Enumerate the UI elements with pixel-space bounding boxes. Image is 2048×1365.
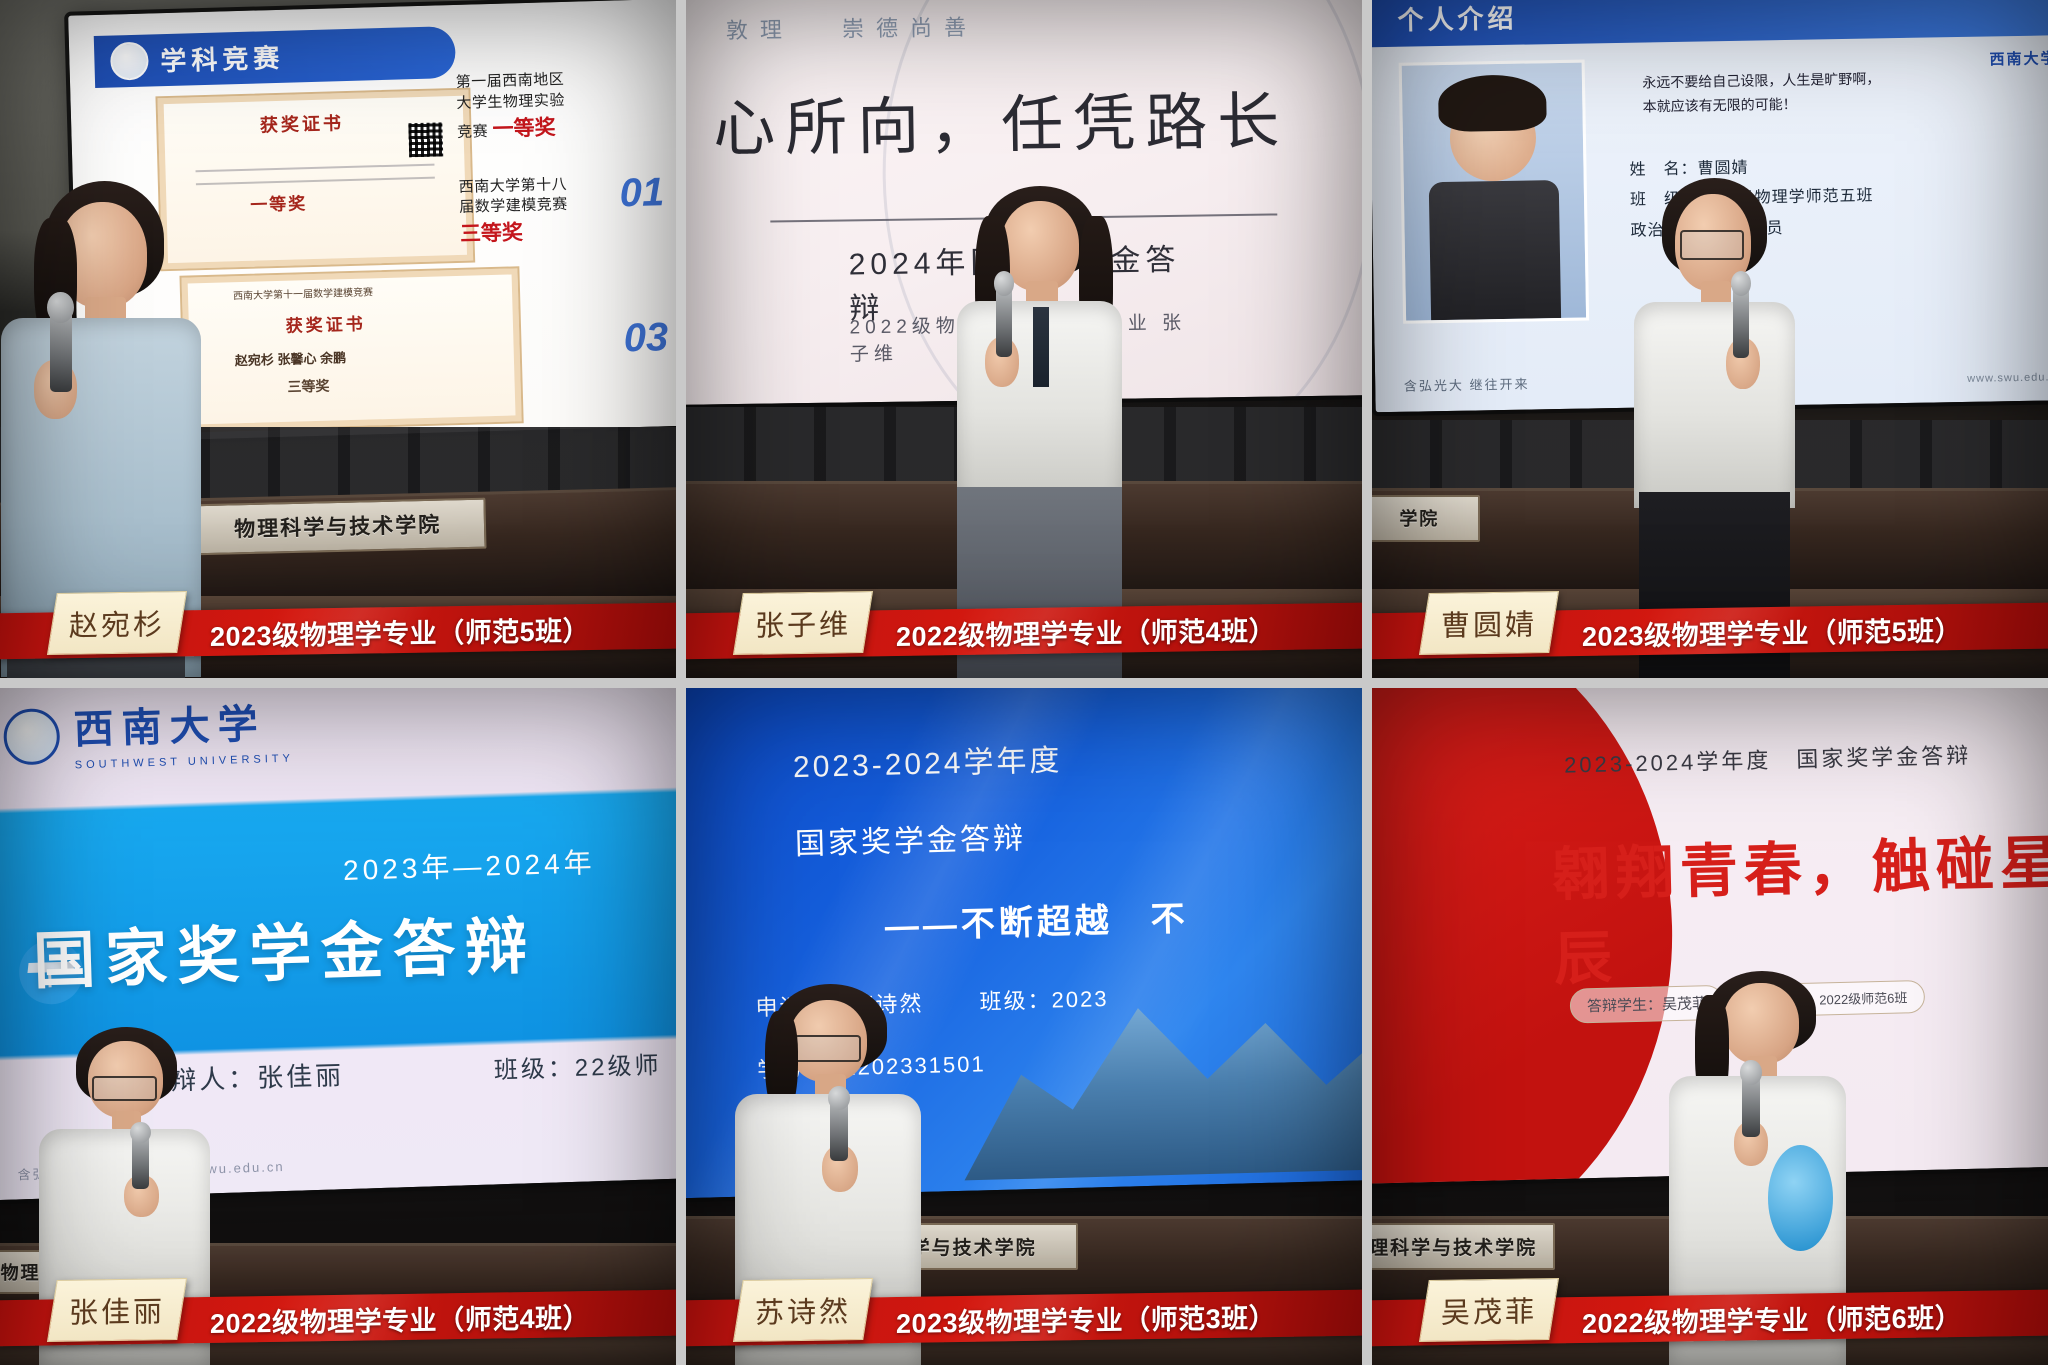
slide-4-university-block: 西南大学 SOUTHWEST UNIVERSITY	[3, 691, 294, 776]
presenter-glasses	[1680, 230, 1744, 261]
presenter-tie	[1033, 307, 1049, 387]
slide-5-line-2: 国家奖学金答辩	[794, 813, 1026, 863]
award-prize-1: 一等奖	[493, 116, 557, 141]
student-name-tag-3: 曹圆婧	[1419, 590, 1559, 654]
slide-3-footer: 含弘光大 继往开来	[1404, 374, 1530, 395]
photo-panel-5[interactable]: 2023-2024学年度 国家奖学金答辩 ——不断超越 不 申请人：苏诗然 班级…	[686, 688, 1362, 1365]
certificate-2-title: 获奖证书	[286, 309, 367, 336]
presenter-torso	[1634, 302, 1795, 508]
student-class-3: 2023级物理学专业（师范5班）	[1582, 605, 1962, 657]
photo-collage: 学科竞赛 获奖证书 一等奖 西南大学第十一届数学建模竞赛 获奖证书 赵宛杉 张馨…	[0, 0, 2048, 1365]
university-seal-icon	[110, 41, 149, 80]
name-banner-2: 张子维 2022级物理学专业（师范4班）	[686, 598, 1362, 656]
photo-panel-2[interactable]: 敦理 崇德尚善 心所向，任凭路长 2024年国家奖学金答辩 2022级物理学（师…	[686, 0, 1362, 678]
motto-left: 敦理	[726, 18, 794, 44]
award-prize-2: 三等奖	[460, 212, 676, 248]
student-name-6: 吴茂菲	[1441, 1288, 1537, 1331]
award-item-3: 竞赛	[457, 122, 489, 143]
photo-panel-6[interactable]: 2023-2024学年度 国家奖学金答辩 翱翔青春，触碰星辰 答辩学生：吴茂菲 …	[1372, 688, 2048, 1365]
slide-2-motto: 敦理 崇德尚善	[726, 10, 979, 46]
name-banner-3: 曹圆婧 2023级物理学专业（师范5班）	[1372, 598, 2048, 656]
microphone-icon	[996, 286, 1012, 356]
scene-3: 个人介绍 西南大学 永远不要给自己设限，人生是旷野啊， 本就应该有无限的可能！	[1372, 0, 2048, 678]
motto-right: 崇德尚善	[842, 15, 978, 42]
slide-4-class: 班级：22级师	[493, 1045, 662, 1085]
photo-panel-3[interactable]: 个人介绍 西南大学 永远不要给自己设限，人生是旷野啊， 本就应该有无限的可能！	[1372, 0, 2048, 678]
student-name-tag-2: 张子维	[733, 590, 873, 654]
student-name-tag-5: 苏诗然	[733, 1278, 873, 1342]
student-portrait	[1398, 60, 1589, 324]
student-class-6: 2022级物理学专业（师范6班）	[1582, 1292, 1962, 1344]
slide-1-header-title: 学科竞赛	[160, 38, 285, 78]
student-name-tag-4: 张佳丽	[47, 1278, 187, 1342]
presenter-head	[1723, 983, 1799, 1064]
department-nameplate-6: 理科学与技术学院	[1372, 1223, 1555, 1270]
student-name-5: 苏诗然	[755, 1288, 851, 1331]
photo-panel-4[interactable]: 西南大学 SOUTHWEST UNIVERSITY 2023年—2024年 国家…	[0, 688, 676, 1365]
student-name-4: 张佳丽	[69, 1288, 165, 1331]
award-number-2: 03	[623, 315, 669, 361]
scene-4: 西南大学 SOUTHWEST UNIVERSITY 2023年—2024年 国家…	[0, 688, 676, 1365]
slide-1-header: 学科竞赛	[94, 26, 456, 87]
certificate-2-sub: 西南大学第十一届数学建模竞赛	[233, 283, 373, 302]
presenter-glasses	[794, 1035, 861, 1063]
photo-panel-1[interactable]: 学科竞赛 获奖证书 一等奖 西南大学第十一届数学建模竞赛 获奖证书 赵宛杉 张馨…	[0, 0, 676, 678]
name-banner-4: 张佳丽 2022级物理学专业（师范4班）	[0, 1285, 676, 1343]
scene-6: 2023-2024学年度 国家奖学金答辩 翱翔青春，触碰星辰 答辩学生：吴茂菲 …	[1372, 688, 2048, 1365]
student-name-2: 张子维	[755, 601, 851, 644]
student-name-1: 赵宛杉	[69, 601, 165, 644]
certificate-2-names: 赵宛杉 张馨心 余鹏	[235, 347, 347, 369]
scene-1: 学科竞赛 获奖证书 一等奖 西南大学第十一届数学建模竞赛 获奖证书 赵宛杉 张馨…	[0, 0, 676, 678]
student-name-3: 曹圆婧	[1441, 601, 1537, 644]
microphone-icon	[1733, 286, 1749, 358]
slide-2-title: 心所向，任凭路长	[713, 71, 1290, 169]
slide-4-title: 国家奖学金答辩	[32, 894, 539, 1000]
student-class-4: 2022级物理学专业（师范4班）	[210, 1292, 590, 1344]
microphone-head	[130, 1122, 150, 1143]
university-names: 西南大学 SOUTHWEST UNIVERSITY	[73, 691, 294, 774]
slide-4-year-range: 2023年—2024年	[342, 841, 596, 889]
certificate-1-prize: 一等奖	[250, 189, 308, 216]
slide-3-header-title: 个人介绍	[1397, 0, 1518, 38]
slide-4-university: 西南大学	[73, 703, 266, 753]
student-name-tag-1: 赵宛杉	[47, 590, 187, 654]
slide-5-line-1: 2023-2024学年度	[792, 735, 1063, 786]
slide-4-university-en: SOUTHWEST UNIVERSITY	[75, 753, 294, 772]
award-number-1: 01	[619, 170, 665, 216]
slide-3-quote: 永远不要给自己设限，人生是旷野啊， 本就应该有无限的可能！	[1642, 65, 2044, 120]
name-banner-1: 赵宛杉 2023级物理学专业（师范5班）	[0, 598, 676, 656]
student-class-5: 2023级物理学专业（师范3班）	[896, 1292, 1276, 1344]
university-seal-icon	[3, 708, 61, 766]
certificate-2-prize: 三等奖	[288, 375, 331, 396]
scene-5: 2023-2024学年度 国家奖学金答辩 ——不断超越 不 申请人：苏诗然 班级…	[686, 688, 1362, 1365]
slide-5-line-3: ——不断超越 不	[884, 891, 1189, 948]
student-class-1: 2023级物理学专业（师范5班）	[210, 605, 590, 657]
slide-1-right-column: 第一届西南地区 大学生物理实验 竞赛 一等奖 西南大学第十八 届数学建模竞赛 三…	[456, 67, 676, 248]
slide-3-header: 个人介绍	[1372, 0, 2048, 47]
certificate-1-title: 获奖证书	[260, 109, 345, 137]
student-name-tag-6: 吴茂菲	[1419, 1278, 1559, 1342]
scene-2: 敦理 崇德尚善 心所向，任凭路长 2024年国家奖学金答辩 2022级物理学（师…	[686, 0, 1362, 678]
presenter-glasses	[92, 1076, 157, 1101]
qr-code-icon	[409, 122, 444, 157]
microphone-head	[1740, 1060, 1762, 1084]
slide-3-footer-url: www.swu.edu.cn	[1967, 372, 2048, 386]
student-class-2: 2022级物理学专业（师范4班）	[896, 605, 1276, 657]
name-banner-6: 吴茂菲 2022级物理学专业（师范6班）	[1372, 1285, 2048, 1343]
microphone-head	[828, 1086, 850, 1110]
presenter-badge	[1768, 1145, 1833, 1251]
name-banner-5: 苏诗然 2023级物理学专业（师范3班）	[686, 1285, 1362, 1343]
class-text: 班级：2023	[979, 986, 1109, 1014]
slide-6-year-line: 2023-2024学年度 国家奖学金答辩	[1564, 738, 1972, 780]
department-nameplate-3: 学院	[1372, 495, 1480, 542]
